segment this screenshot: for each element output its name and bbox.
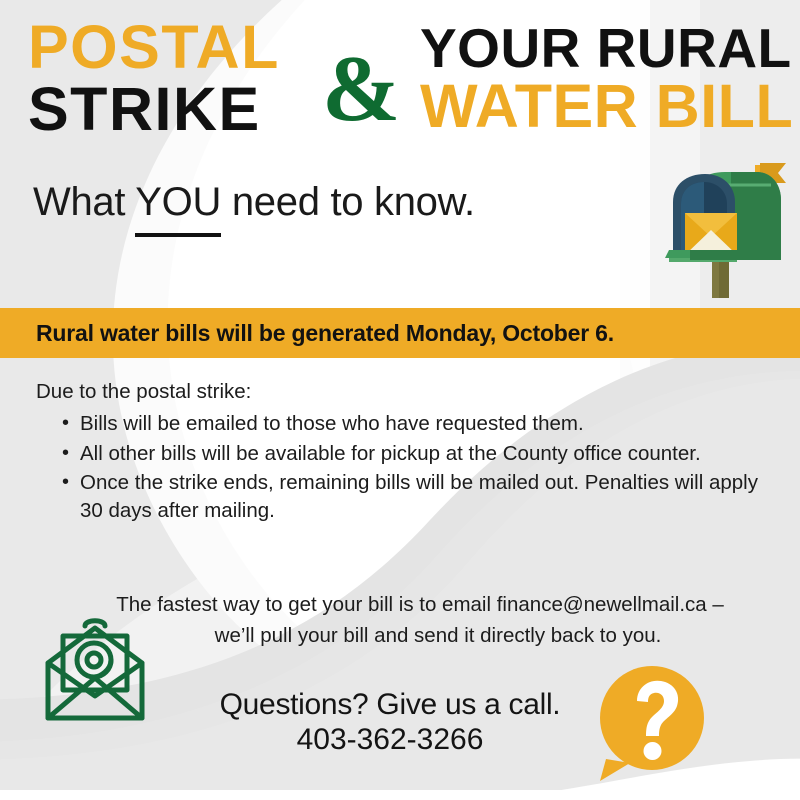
subheading-before: What bbox=[33, 180, 135, 224]
subheading: What YOU need to know. bbox=[33, 180, 653, 225]
highlight-banner: Rural water bills will be generated Mond… bbox=[0, 308, 800, 358]
subheading-emphasis: YOU bbox=[135, 180, 221, 237]
body-bullet-list: • Bills will be emailed to those who hav… bbox=[36, 410, 776, 525]
list-item: • Once the strike ends, remaining bills … bbox=[62, 469, 776, 526]
bullet-marker: • bbox=[62, 469, 69, 497]
bullet-marker: • bbox=[62, 440, 69, 468]
headline-right: YOUR RURAL WATER BILL bbox=[420, 22, 800, 137]
closing-paragraph: The fastest way to get your bill is to e… bbox=[55, 590, 785, 652]
bullet-marker: • bbox=[62, 410, 69, 438]
headline-left: POSTAL STRIKE bbox=[28, 18, 358, 140]
body-copy: Due to the postal strike: • Bills will b… bbox=[36, 378, 776, 526]
headline-block: POSTAL STRIKE & YOUR RURAL WATER BILL bbox=[0, 0, 800, 150]
headline-ampersand: & bbox=[322, 42, 400, 136]
mailbox-icon bbox=[645, 150, 795, 300]
contact-question-line: Questions? Give us a call. bbox=[180, 688, 600, 722]
headline-strike: STRIKE bbox=[28, 80, 358, 140]
list-item-text: All other bills will be available for pi… bbox=[80, 442, 701, 465]
list-item: • All other bills will be available for … bbox=[62, 440, 776, 468]
question-bubble-icon bbox=[592, 663, 712, 783]
subheading-after: need to know. bbox=[221, 180, 475, 224]
body-intro: Due to the postal strike: bbox=[36, 378, 776, 406]
list-item: • Bills will be emailed to those who hav… bbox=[62, 410, 776, 438]
list-item-text: Bills will be emailed to those who have … bbox=[80, 412, 584, 435]
list-item-text: Once the strike ends, remaining bills wi… bbox=[80, 471, 758, 522]
headline-your-rural: YOUR RURAL bbox=[420, 22, 800, 75]
poster-canvas: POSTAL STRIKE & YOUR RURAL WATER BILL Wh… bbox=[0, 0, 800, 800]
closing-line-2: we’ll pull your bill and send it directl… bbox=[55, 621, 785, 652]
contact-phone[interactable]: 403-362-3266 bbox=[180, 722, 600, 758]
headline-postal: POSTAL bbox=[28, 18, 358, 78]
banner-text: Rural water bills will be generated Mond… bbox=[0, 320, 614, 347]
closing-line-1: The fastest way to get your bill is to e… bbox=[116, 593, 724, 616]
contact-block: Questions? Give us a call. 403-362-3266 bbox=[180, 688, 600, 758]
email-at-icon bbox=[30, 618, 160, 728]
headline-water-bill: WATER BILL bbox=[420, 77, 800, 136]
